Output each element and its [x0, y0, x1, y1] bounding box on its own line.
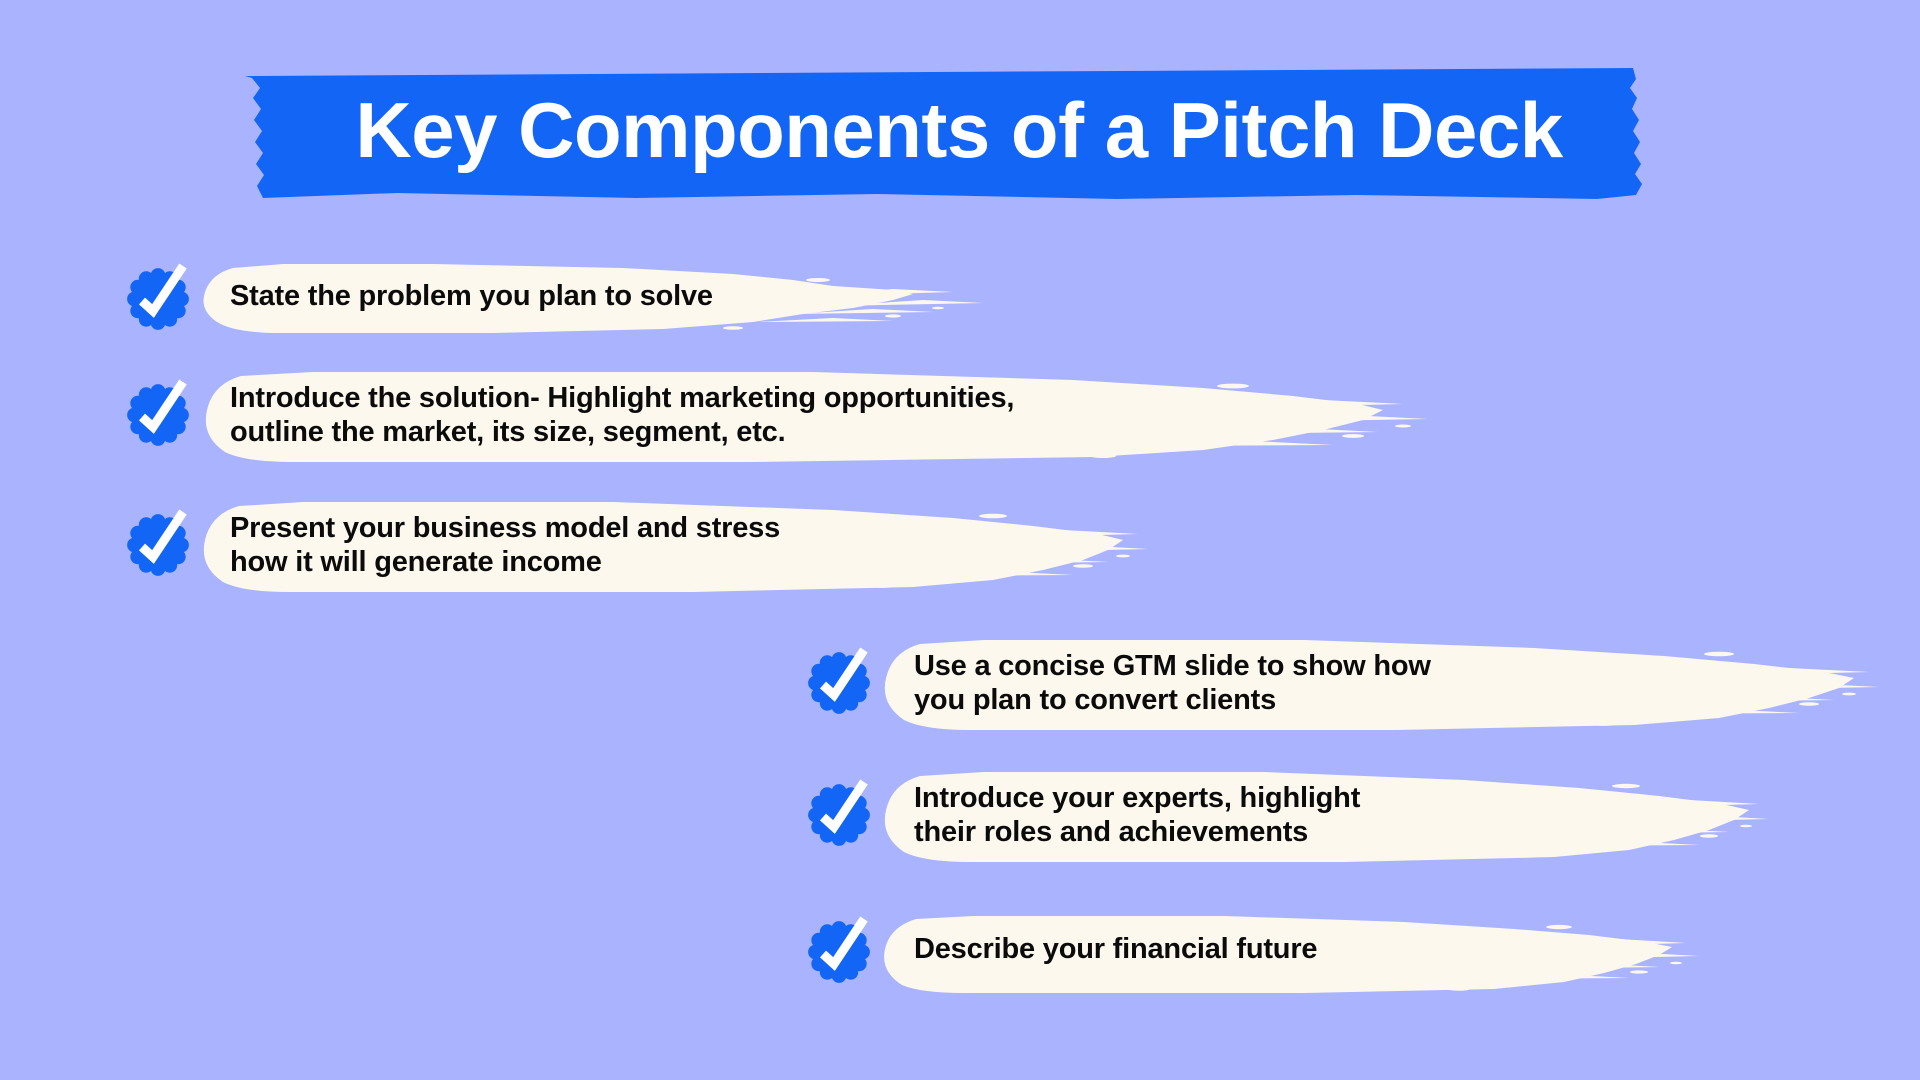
bullet-text-6: Describe your financial future [914, 933, 1614, 967]
bullet-item-2: Introduce the solution- Highlight market… [125, 370, 1445, 460]
check-badge-icon-3 [125, 512, 191, 578]
bullet-item-5: Introduce your experts, highlight their … [806, 770, 1706, 860]
check-badge-icon-2 [125, 382, 191, 448]
check-badge-icon-4 [806, 650, 872, 716]
bullet-text-4: Use a concise GTM slide to show how you … [914, 650, 1734, 717]
bullet-text-3: Present your business model and stress h… [230, 512, 1050, 579]
bullet-text-5: Introduce your experts, highlight their … [914, 782, 1674, 849]
bullet-item-6: Describe your financial future [806, 915, 1626, 985]
check-badge-icon-1 [125, 266, 191, 332]
check-badge-icon-6 [806, 919, 872, 985]
bullet-text-1: State the problem you plan to solve [230, 280, 870, 314]
bullet-item-3: Present your business model and stress h… [125, 500, 1125, 590]
slide-canvas: Key Components of a Pitch Deck [0, 0, 1920, 1080]
check-badge-icon-5 [806, 782, 872, 848]
title-banner: Key Components of a Pitch Deck [237, 62, 1681, 202]
bullet-text-2: Introduce the solution- Highlight market… [230, 382, 1310, 449]
page-title: Key Components of a Pitch Deck [237, 62, 1681, 202]
bullet-item-1: State the problem you plan to solve [125, 262, 975, 332]
bullet-item-4: Use a concise GTM slide to show how you … [806, 638, 1786, 728]
